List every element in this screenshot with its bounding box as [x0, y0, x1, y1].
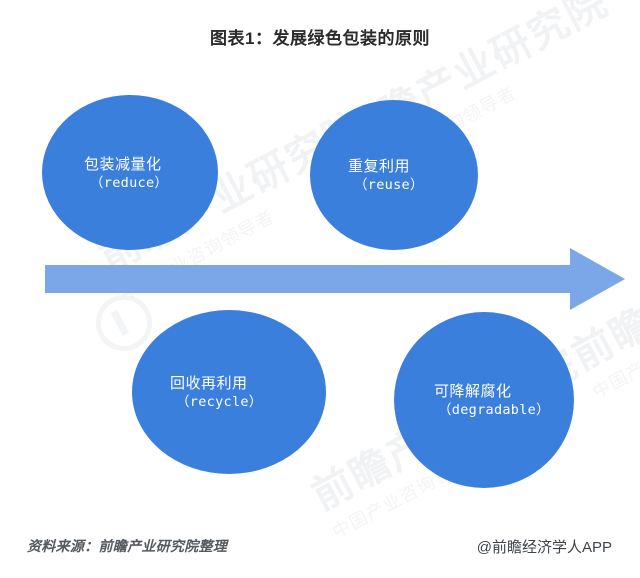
- node-reduce-label-en: （reduce）: [84, 174, 204, 192]
- node-degradable-text: 可降解腐化 （degradable）: [394, 381, 574, 419]
- node-recycle-label-cn: 回收再利用: [170, 373, 312, 393]
- node-degradable[interactable]: 可降解腐化 （degradable）: [394, 312, 574, 488]
- footer: 资料来源：前瞻产业研究院整理 @前瞻经济学人APP: [0, 536, 640, 560]
- node-recycle[interactable]: 回收再利用 （recycle）: [132, 310, 326, 474]
- node-reuse[interactable]: 重复利用 （reuse）: [310, 100, 478, 250]
- process-arrow: [45, 248, 625, 310]
- node-degradable-label-cn: 可降解腐化: [434, 381, 560, 401]
- node-reuse-label-cn: 重复利用: [348, 156, 464, 176]
- node-reuse-label-en: （reuse）: [348, 176, 464, 194]
- node-recycle-text: 回收再利用 （recycle）: [132, 373, 326, 411]
- brand-label: @前瞻经济学人APP: [477, 536, 612, 557]
- node-reuse-text: 重复利用 （reuse）: [310, 156, 478, 194]
- page-title: 图表1：发展绿色包装的原则: [0, 24, 640, 49]
- node-reduce[interactable]: 包装减量化 （reduce）: [42, 95, 218, 250]
- chart-canvas: 前瞻产业研究院 中国产业咨询领导者 前瞻产业研究院 中国产业咨询领导者 前瞻产业…: [0, 0, 640, 578]
- node-degradable-label-en: （degradable）: [434, 401, 560, 419]
- node-reduce-label-cn: 包装减量化: [84, 153, 204, 173]
- node-reduce-text: 包装减量化 （reduce）: [42, 153, 218, 191]
- node-recycle-label-en: （recycle）: [170, 393, 312, 411]
- source-note: 资料来源：前瞻产业研究院整理: [27, 536, 227, 556]
